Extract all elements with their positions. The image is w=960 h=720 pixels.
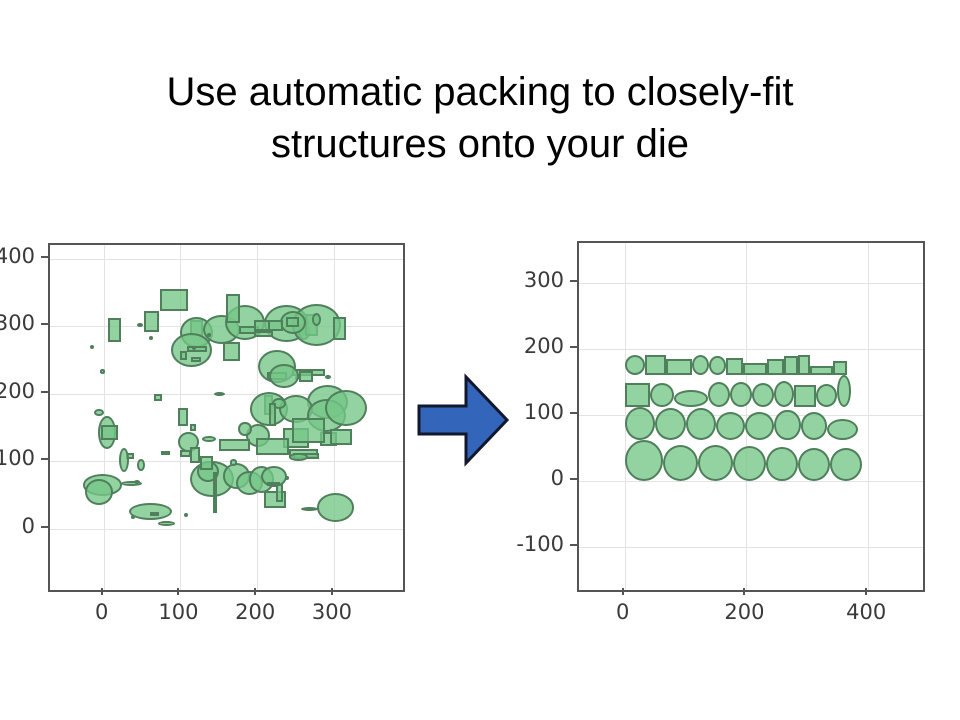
structure-rect (269, 403, 275, 426)
x-tick-mark (622, 588, 624, 595)
structure-rect (108, 318, 121, 342)
structure-rect (160, 289, 188, 311)
structure-ellipse (655, 408, 686, 440)
structure-rect (190, 447, 199, 463)
gridline-vertical (868, 243, 869, 590)
title-line-1: Use automatic packing to closely-fit (0, 66, 960, 118)
y-tick-label: 200 (484, 334, 564, 358)
x-tick-label: 300 (292, 600, 372, 624)
gridline-horizontal (579, 547, 923, 548)
structure-rect (625, 383, 651, 407)
x-tick-mark (331, 588, 333, 595)
structure-ellipse (137, 459, 145, 471)
structure-ellipse (730, 382, 752, 407)
structure-rect (810, 366, 833, 375)
structure-ellipse (85, 479, 113, 505)
chart-packed-structures: 0200400-1000100200300 (500, 235, 960, 600)
structure-rect (299, 371, 313, 382)
structure-rect (191, 357, 201, 362)
structure-ellipse (625, 407, 655, 440)
x-tick-mark (865, 588, 867, 595)
structure-ellipse (686, 408, 716, 440)
y-tick-label: 100 (484, 400, 564, 424)
y-tick-mark (570, 544, 577, 546)
structure-ellipse (816, 384, 837, 406)
structure-ellipse (692, 355, 710, 375)
structure-rect (798, 355, 810, 375)
structure-ellipse (830, 448, 862, 481)
structure-ellipse (312, 313, 321, 326)
structure-ellipse (752, 383, 774, 407)
y-tick-mark (41, 323, 48, 325)
structure-rect (178, 408, 188, 426)
structure-rect (268, 320, 283, 331)
structure-ellipse (663, 445, 698, 481)
x-tick-mark (743, 588, 745, 595)
structure-ellipse (325, 375, 330, 379)
structure-ellipse (733, 446, 766, 481)
x-tick-label: 400 (826, 600, 906, 624)
structure-rect (180, 351, 188, 360)
structure-ellipse (158, 521, 175, 526)
structure-ellipse (94, 409, 104, 416)
gridline-horizontal (50, 461, 403, 462)
structure-ellipse (285, 476, 290, 480)
structure-ellipse (137, 323, 142, 327)
structure-ellipse (801, 412, 828, 440)
y-tick-mark (41, 391, 48, 393)
y-tick-mark (570, 346, 577, 348)
structure-ellipse (650, 383, 674, 407)
x-tick-label: 0 (583, 600, 663, 624)
structure-rect (256, 438, 288, 454)
structure-rect (267, 482, 280, 486)
y-tick-label: -100 (484, 532, 564, 556)
structure-ellipse (238, 422, 252, 437)
structure-ellipse (625, 440, 663, 481)
gridline-horizontal (50, 529, 403, 530)
y-tick-mark (41, 526, 48, 528)
structure-ellipse (184, 513, 188, 517)
y-tick-label: 0 (0, 514, 35, 538)
structure-ellipse (674, 390, 708, 407)
structure-ellipse (269, 364, 299, 388)
y-tick-label: 300 (0, 311, 35, 335)
structure-rect (726, 358, 743, 375)
structure-ellipse (745, 412, 774, 440)
y-tick-mark (570, 280, 577, 282)
structure-ellipse (289, 453, 307, 461)
structure-ellipse (149, 336, 153, 340)
structure-ellipse (100, 369, 105, 373)
x-tick-mark (101, 588, 103, 595)
structure-ellipse (709, 356, 725, 375)
chart-unpacked-structures: 01002003000100200300400 (0, 235, 420, 600)
title-line-2: structures onto your die (0, 118, 960, 170)
structure-rect (101, 425, 119, 440)
page-title: Use automatic packing to closely-fit str… (0, 66, 960, 170)
gridline-horizontal (579, 481, 923, 482)
gridline-horizontal (50, 259, 403, 260)
structure-ellipse (766, 447, 798, 481)
y-tick-mark (41, 256, 48, 258)
structure-rect (144, 311, 159, 332)
structure-rect (286, 317, 298, 326)
gridline-horizontal (579, 349, 923, 350)
structure-rect (219, 439, 250, 451)
structure-rect (254, 331, 273, 337)
structure-rect (833, 361, 847, 376)
x-tick-label: 200 (215, 600, 295, 624)
x-tick-label: 0 (62, 600, 142, 624)
structure-ellipse (202, 436, 216, 442)
y-tick-mark (570, 478, 577, 480)
structure-rect (226, 294, 240, 322)
structure-ellipse (625, 355, 646, 375)
structure-ellipse (698, 445, 733, 481)
structure-ellipse (301, 507, 318, 511)
y-tick-mark (41, 458, 48, 460)
structure-ellipse (708, 382, 730, 407)
structure-rect (213, 472, 217, 513)
y-tick-label: 300 (484, 268, 564, 292)
structure-ellipse (798, 448, 830, 481)
structure-rect (645, 355, 666, 375)
structure-rect (794, 385, 817, 407)
structure-ellipse (774, 381, 794, 407)
structure-ellipse (207, 333, 212, 337)
x-tick-mark (254, 588, 256, 595)
structure-rect (333, 317, 346, 339)
structure-rect (330, 429, 351, 445)
gridline-horizontal (579, 283, 923, 284)
structure-ellipse (827, 419, 858, 440)
structure-rect (187, 346, 208, 352)
y-tick-label: 0 (484, 466, 564, 490)
y-tick-mark (570, 412, 577, 414)
structure-rect (666, 359, 692, 375)
structure-ellipse (716, 412, 745, 440)
structure-rect (743, 363, 767, 375)
plot-area-unpacked (48, 243, 405, 592)
structure-ellipse (214, 392, 225, 396)
x-tick-label: 200 (704, 600, 784, 624)
structure-rect (784, 356, 797, 375)
structure-rect (190, 424, 196, 431)
structure-ellipse (837, 375, 851, 407)
structure-rect (161, 451, 170, 455)
structure-rect (154, 394, 162, 401)
structure-ellipse (230, 459, 238, 465)
y-tick-label: 200 (0, 379, 35, 403)
structure-rect (292, 418, 324, 442)
structure-ellipse (90, 345, 94, 349)
structure-rect (276, 484, 283, 502)
x-tick-label: 100 (138, 600, 218, 624)
x-tick-mark (177, 588, 179, 595)
structure-ellipse (774, 410, 800, 440)
structure-rect (150, 512, 159, 516)
structure-ellipse (317, 493, 354, 521)
plot-area-packed (577, 241, 925, 592)
structure-rect (200, 456, 213, 470)
structure-ellipse (119, 448, 129, 472)
structure-rect (223, 342, 240, 362)
structure-rect (767, 359, 784, 375)
y-tick-label: 400 (0, 244, 35, 268)
y-tick-label: 100 (0, 446, 35, 470)
structure-ellipse (325, 390, 366, 426)
structure-ellipse (131, 515, 135, 519)
